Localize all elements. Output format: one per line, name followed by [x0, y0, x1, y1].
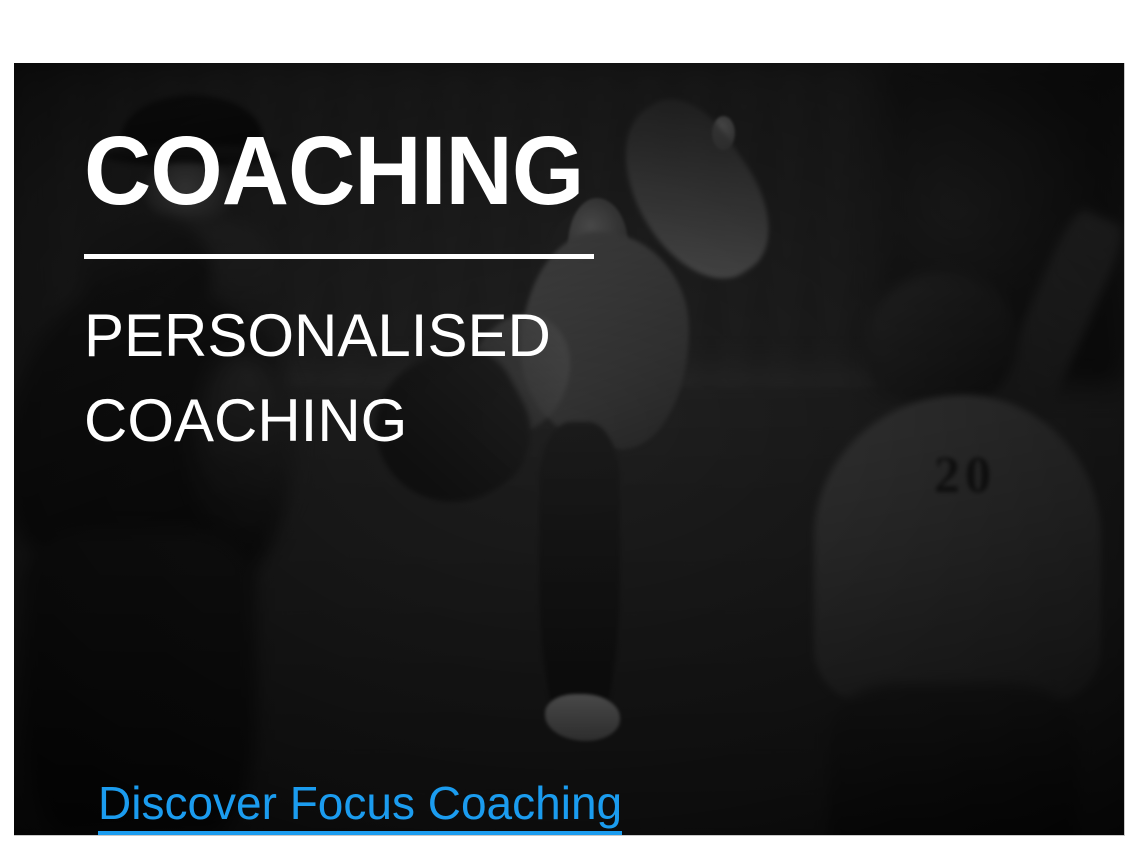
hero-copy-block: COACHING PERSONALISED COACHING [84, 125, 784, 464]
hero-subtitle: PERSONALISED COACHING [84, 293, 604, 463]
title-underline-rule [84, 254, 594, 259]
page-root: 20 COACHING PERSONALISED COACHING Discov… [0, 0, 1140, 850]
hero-cta-wrapper: Discover Focus Coaching [98, 776, 622, 835]
discover-focus-coaching-link[interactable]: Discover Focus Coaching [98, 776, 622, 835]
coaching-hero-banner: 20 COACHING PERSONALISED COACHING Discov… [14, 63, 1125, 836]
hero-title: COACHING [84, 125, 756, 216]
